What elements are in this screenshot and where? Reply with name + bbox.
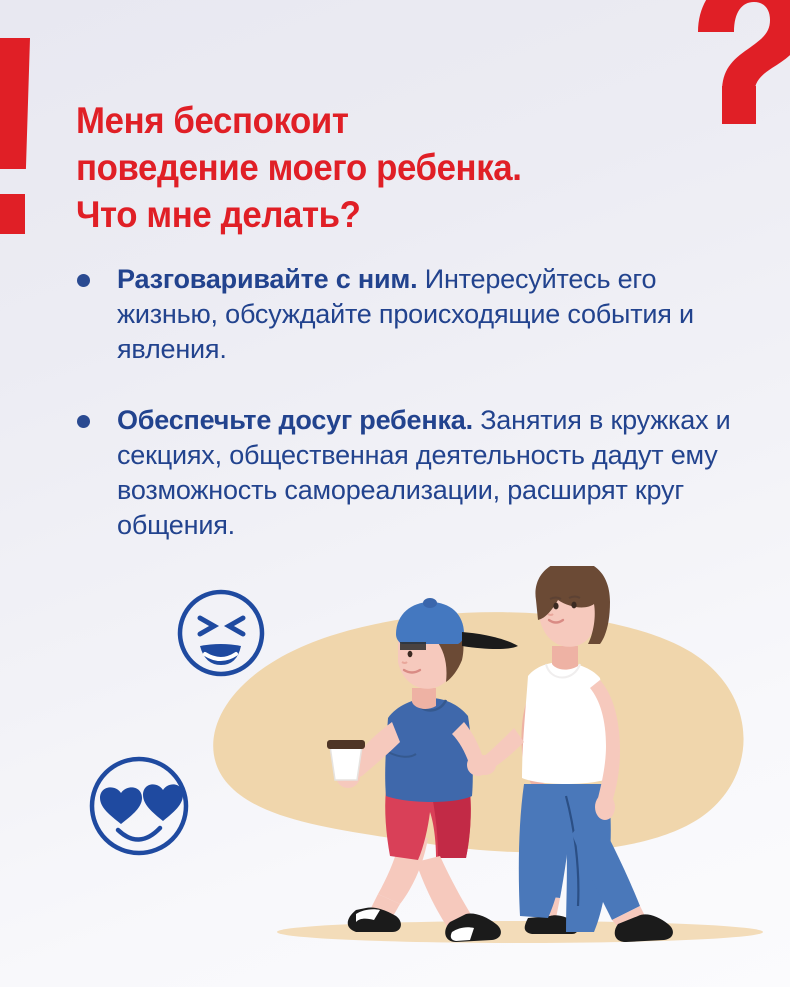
title-line-2: поведение моего ребенка.	[76, 144, 678, 191]
bullet-lead: Разговаривайте с ним.	[117, 264, 417, 294]
title-line-3: Что мне делать?	[76, 191, 678, 238]
advice-list: Разговаривайте с ним. Интересуйтесь его …	[72, 262, 752, 543]
bullet-dot-icon	[77, 415, 90, 428]
page-title: Меня беспокоит поведение моего ребенка. …	[76, 97, 678, 238]
list-item: Обеспечьте досуг ребенка. Занятия в круж…	[72, 403, 752, 543]
beige-blob-shape	[213, 612, 743, 852]
title-line-1: Меня беспокоит	[76, 97, 678, 144]
bullet-text: Обеспечьте досуг ребенка. Занятия в круж…	[117, 403, 752, 543]
exclamation-mark-decoration	[0, 38, 30, 234]
list-item: Разговаривайте с ним. Интересуйтесь его …	[72, 262, 752, 367]
exclamation-dot	[0, 194, 25, 234]
bullet-dot-icon	[77, 274, 90, 287]
question-mark-decoration	[688, 0, 790, 140]
bullet-text: Разговаривайте с ним. Интересуйтесь его …	[117, 262, 752, 367]
illustration-mother-and-son	[0, 566, 790, 987]
laughing-face-icon	[180, 592, 262, 674]
bullet-lead: Обеспечьте досуг ребенка.	[117, 405, 473, 435]
poster-canvas: Меня беспокоит поведение моего ребенка. …	[0, 0, 790, 987]
heart-eyes-face-icon	[92, 759, 186, 853]
exclamation-stem	[0, 38, 30, 169]
